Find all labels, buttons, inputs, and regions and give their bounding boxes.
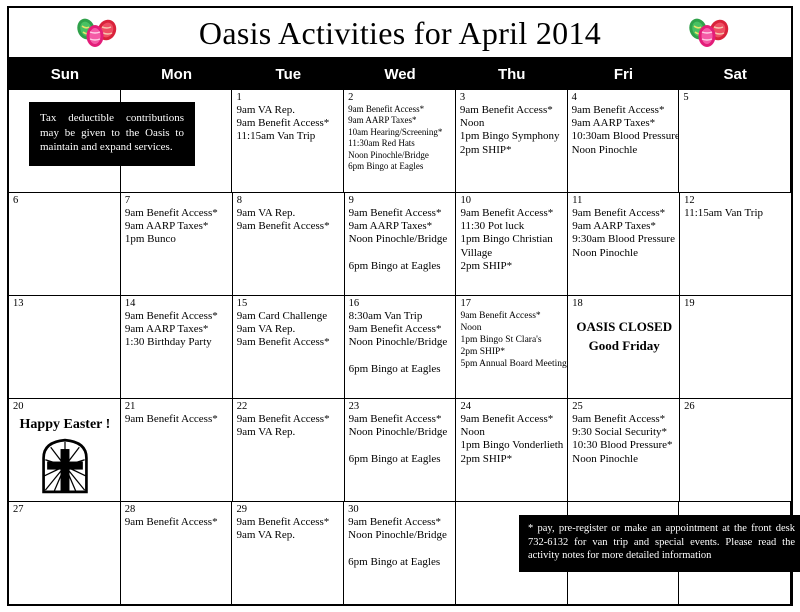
calendar-title-bar: Oasis Activities for April 2014 (9, 8, 791, 59)
event-item[interactable]: 9am Benefit Access* (237, 336, 341, 349)
event-item[interactable]: 9am Benefit Access* (460, 310, 564, 322)
event-item[interactable]: 11:30 Pot luck (460, 220, 564, 233)
event-item[interactable]: 9am VA Rep. (237, 323, 341, 336)
day-cell-27[interactable]: 27 (9, 502, 121, 604)
event-item[interactable]: Noon Pinochle/Bridge (348, 529, 452, 542)
day-number: 29 (236, 504, 340, 515)
event-item[interactable]: 9am Benefit Access* (125, 207, 229, 220)
event-item[interactable]: 9am Benefit Access* (572, 207, 676, 220)
day-number: 2 (348, 92, 452, 103)
weekday-thu: Thu (456, 59, 568, 89)
event-item[interactable]: 9am VA Rep. (237, 207, 341, 220)
weekday-mon: Mon (121, 59, 233, 89)
day-cell-25[interactable]: 259am Benefit Access*9:30 Social Securit… (568, 399, 680, 501)
day-number: 20 (13, 401, 117, 412)
event-item[interactable]: 1pm Bingo St Clara's (460, 334, 564, 346)
event-item[interactable]: 9am AARP Taxes* (349, 220, 453, 233)
event-item[interactable]: 9:30 Social Security* (572, 426, 676, 439)
weekday-header-row: Sun Mon Tue Wed Thu Fri Sat (9, 59, 791, 90)
event-item[interactable]: Noon Pinochle (572, 453, 676, 466)
event-item[interactable]: 9am VA Rep. (236, 529, 340, 542)
day-cell-3[interactable]: 39am Benefit Access*Noon1pm Bingo Sympho… (456, 90, 568, 192)
day-cell-24[interactable]: 249am Benefit Access*Noon1pm Bingo Vonde… (456, 399, 568, 501)
calendar-week-row: 20Happy Easter !219am Benefit Access*229… (9, 399, 791, 502)
calendar: Oasis Activities for April 2014 (7, 6, 793, 606)
event-item[interactable]: 9am Benefit Access* (236, 516, 340, 529)
event-item[interactable]: 9am AARP Taxes* (348, 115, 452, 126)
closed-notice-line: Good Friday (572, 336, 676, 355)
event-item[interactable]: 9am Benefit Access* (349, 323, 453, 336)
day-cell-19[interactable]: 19 (680, 296, 791, 398)
easter-greeting: Happy Easter ! (13, 416, 117, 434)
easter-eggs-icon (683, 18, 731, 48)
day-number: 18 (572, 298, 676, 309)
day-number: 27 (13, 504, 117, 515)
day-number: 6 (13, 195, 117, 206)
event-item[interactable]: 9am Benefit Access* (237, 413, 341, 426)
day-cell-4[interactable]: 49am Benefit Access*9am AARP Taxes*10:30… (568, 90, 680, 192)
day-number: 24 (460, 401, 564, 412)
day-cell-26[interactable]: 26 (680, 399, 791, 501)
event-item[interactable]: Noon Pinochle (572, 247, 676, 260)
day-number: 9 (349, 195, 453, 206)
day-cell-11[interactable]: 119am Benefit Access*9am AARP Taxes*9:30… (568, 193, 680, 295)
calendar-week-row: 13149am Benefit Access*9am AARP Taxes*1:… (9, 296, 791, 399)
event-item[interactable]: 1:30 Birthday Party (125, 336, 229, 349)
event-item[interactable]: 9am Benefit Access* (460, 104, 564, 117)
event-item[interactable]: Village (460, 247, 564, 260)
day-cell-14[interactable]: 149am Benefit Access*9am AARP Taxes*1:30… (121, 296, 233, 398)
day-cell-15[interactable]: 159am Card Challenge9am VA Rep.9am Benef… (233, 296, 345, 398)
tax-deductible-text: Tax deductible contributions may be give… (40, 111, 184, 155)
day-cell-12[interactable]: 1211:15am Van Trip (680, 193, 791, 295)
event-item[interactable]: 6pm Bingo at Eagles (349, 363, 453, 376)
day-number: 13 (13, 298, 117, 309)
event-item[interactable]: Noon (460, 426, 564, 439)
event-item[interactable]: Noon Pinochle (572, 144, 676, 157)
day-cell-23[interactable]: 239am Benefit Access*Noon Pinochle/Bridg… (345, 399, 457, 501)
event-item[interactable]: 9am VA Rep. (237, 426, 341, 439)
day-number: 26 (684, 401, 788, 412)
day-cell-7[interactable]: 79am Benefit Access*9am AARP Taxes*1pm B… (121, 193, 233, 295)
event-item[interactable]: 9am AARP Taxes* (572, 220, 676, 233)
event-item[interactable]: Noon (460, 322, 564, 334)
event-item[interactable]: 5pm Annual Board Meeting (460, 358, 564, 370)
day-number: 15 (237, 298, 341, 309)
day-number: 16 (349, 298, 453, 309)
event-item[interactable]: 1pm Bunco (125, 233, 229, 246)
weekday-tue: Tue (232, 59, 344, 89)
day-number: 19 (684, 298, 788, 309)
event-item[interactable]: 11:30am Red Hats (348, 138, 452, 149)
day-number: 1 (236, 92, 340, 103)
day-cell-8[interactable]: 89am VA Rep.9am Benefit Access* (233, 193, 345, 295)
event-item[interactable]: 2pm SHIP* (460, 144, 564, 157)
day-number: 28 (125, 504, 229, 515)
event-item[interactable]: 9am AARP Taxes* (572, 117, 676, 130)
day-cell-6[interactable]: 6 (9, 193, 121, 295)
day-cell-18[interactable]: 18OASIS CLOSEDGood Friday (568, 296, 680, 398)
event-item[interactable]: 11:15am Van Trip (236, 130, 340, 143)
day-number: 7 (125, 195, 229, 206)
day-cell-13[interactable]: 13 (9, 296, 121, 398)
event-item[interactable]: 9am Benefit Access* (348, 104, 452, 115)
event-item[interactable]: 6pm Bingo at Eagles (348, 556, 452, 569)
calendar-week-row: 679am Benefit Access*9am AARP Taxes*1pm … (9, 193, 791, 296)
event-item[interactable]: 10:30 Blood Pressure* (572, 439, 676, 452)
day-cell-9[interactable]: 99am Benefit Access*9am AARP Taxes*Noon … (345, 193, 457, 295)
event-item[interactable]: 6pm Bingo at Eagles (348, 161, 452, 172)
day-number: 14 (125, 298, 229, 309)
event-item[interactable]: 9am Benefit Access* (572, 413, 676, 426)
event-item[interactable]: 9am Benefit Access* (125, 310, 229, 323)
event-item[interactable]: Noon Pinochle/Bridge (348, 150, 452, 161)
calendar-week-row: 27289am Benefit Access*299am Benefit Acc… (9, 502, 791, 604)
day-number: 17 (460, 298, 564, 309)
event-item[interactable]: 9am Benefit Access* (348, 516, 452, 529)
day-number: 12 (684, 195, 788, 206)
event-item[interactable]: 2pm SHIP* (460, 346, 564, 358)
event-item[interactable]: 9am Benefit Access* (125, 516, 229, 529)
day-cell-17[interactable]: 179am Benefit Access*Noon1pm Bingo St Cl… (456, 296, 568, 398)
day-number: 10 (460, 195, 564, 206)
event-item[interactable]: 9am Benefit Access* (349, 413, 453, 426)
event-item[interactable]: 6pm Bingo at Eagles (349, 453, 453, 466)
day-number: 30 (348, 504, 452, 515)
day-number: 11 (572, 195, 676, 206)
day-number: 3 (460, 92, 564, 103)
easter-eggs-icon (71, 18, 119, 48)
weekday-sun: Sun (9, 59, 121, 89)
weekday-wed: Wed (344, 59, 456, 89)
day-number: 22 (237, 401, 341, 412)
calendar-week-row: 19am VA Rep.9am Benefit Access*11:15am V… (9, 90, 791, 193)
event-item[interactable]: Noon Pinochle/Bridge (349, 233, 453, 246)
day-cell-10[interactable]: 109am Benefit Access*11:30 Pot luck1pm B… (456, 193, 568, 295)
day-cell-16[interactable]: 168:30am Van Trip9am Benefit Access*Noon… (345, 296, 457, 398)
event-item[interactable]: 9am Benefit Access* (237, 220, 341, 233)
event-item[interactable]: 8:30am Van Trip (349, 310, 453, 323)
event-item[interactable]: 6pm Bingo at Eagles (349, 260, 453, 273)
event-item[interactable]: 9am Benefit Access* (236, 117, 340, 130)
event-item[interactable]: 9am Benefit Access* (349, 207, 453, 220)
day-number: 8 (237, 195, 341, 206)
day-number: 25 (572, 401, 676, 412)
event-item[interactable]: 9am AARP Taxes* (125, 220, 229, 233)
day-number: 23 (349, 401, 453, 412)
event-item[interactable]: 10am Hearing/Screening* (348, 127, 452, 138)
event-item[interactable]: 9am VA Rep. (236, 104, 340, 117)
event-item[interactable]: 2pm SHIP* (460, 453, 564, 466)
tax-deductible-callout: Tax deductible contributions may be give… (29, 102, 195, 166)
day-cell-5[interactable]: 5 (679, 90, 791, 192)
event-item[interactable]: Noon Pinochle/Bridge (349, 426, 453, 439)
cross-window-icon (13, 438, 117, 494)
day-cell-28[interactable]: 289am Benefit Access* (121, 502, 233, 604)
day-cell-30[interactable]: 309am Benefit Access*Noon Pinochle/Bridg… (344, 502, 456, 604)
weekday-sat: Sat (679, 59, 791, 89)
day-cell-20[interactable]: 20Happy Easter ! (9, 399, 121, 501)
event-item[interactable]: 1pm Bingo Symphony (460, 130, 564, 143)
event-item[interactable]: 9am Benefit Access* (572, 104, 676, 117)
day-number: 21 (125, 401, 229, 412)
event-item[interactable]: 9am Benefit Access* (460, 207, 564, 220)
day-number: 4 (572, 92, 676, 103)
footer-note-callout: * pay, pre-register or make an appointme… (519, 515, 800, 572)
day-cell-2[interactable]: 29am Benefit Access*9am AARP Taxes*10am … (344, 90, 456, 192)
event-item[interactable]: 9am Card Challenge (237, 310, 341, 323)
event-item[interactable]: 2pm SHIP* (460, 260, 564, 273)
footer-note-text: * pay, pre-register or make an appointme… (528, 522, 795, 563)
event-item[interactable]: Noon (460, 117, 564, 130)
day-cell-29[interactable]: 299am Benefit Access*9am VA Rep. (232, 502, 344, 604)
day-number: 5 (683, 92, 787, 103)
event-item[interactable]: 9am Benefit Access* (460, 413, 564, 426)
event-item[interactable]: Noon Pinochle/Bridge (349, 336, 453, 349)
weekday-fri: Fri (568, 59, 680, 89)
day-cell-21[interactable]: 219am Benefit Access* (121, 399, 233, 501)
closed-notice-line: OASIS CLOSED (572, 317, 676, 336)
event-item[interactable]: 11:15am Van Trip (684, 207, 788, 220)
day-cell-1[interactable]: 19am VA Rep.9am Benefit Access*11:15am V… (232, 90, 344, 192)
event-item[interactable]: 1pm Bingo Christian (460, 233, 564, 246)
day-cell-22[interactable]: 229am Benefit Access*9am VA Rep. (233, 399, 345, 501)
calendar-page: Oasis Activities for April 2014 (0, 0, 800, 612)
event-item[interactable]: 9am Benefit Access* (125, 413, 229, 426)
event-item[interactable]: 9am AARP Taxes* (125, 323, 229, 336)
page-title: Oasis Activities for April 2014 (199, 17, 601, 49)
event-item[interactable]: 1pm Bingo Vonderlieth (460, 439, 564, 452)
event-item[interactable]: 10:30am Blood Pressure (572, 130, 676, 143)
event-item[interactable]: 9:30am Blood Pressure (572, 233, 676, 246)
calendar-grid: 19am VA Rep.9am Benefit Access*11:15am V… (9, 90, 791, 604)
